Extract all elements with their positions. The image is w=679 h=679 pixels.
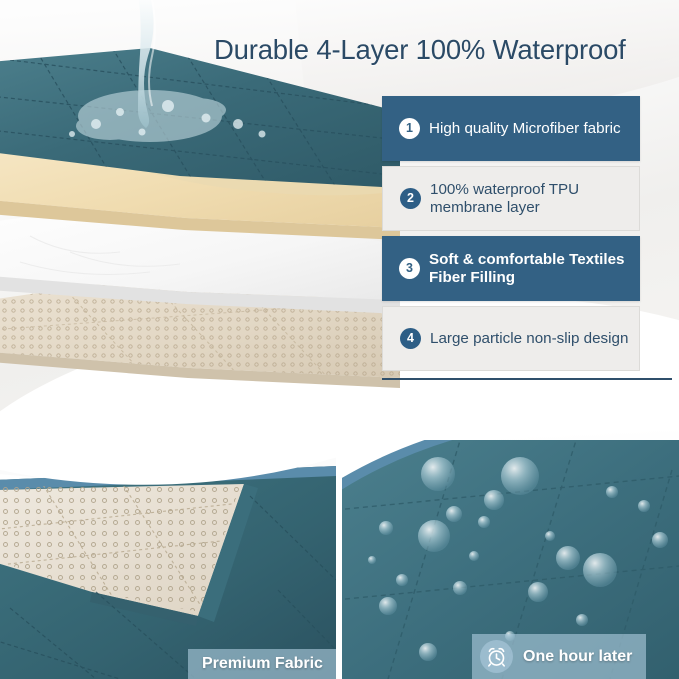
- top-section: Durable 4-Layer 100% Waterproof 1 High q…: [0, 0, 679, 440]
- caption-one-hour-later: One hour later: [472, 634, 646, 679]
- feature-item-2[interactable]: 2 100% waterproof TPU membrane layer: [382, 166, 640, 231]
- feature-badge-2: 2: [400, 188, 421, 209]
- section-divider: [382, 378, 672, 380]
- caption-premium-fabric-label: Premium Fabric: [202, 655, 323, 673]
- product-infographic: Durable 4-Layer 100% Waterproof 1 High q…: [0, 0, 679, 679]
- feature-badge-3: 3: [399, 258, 420, 279]
- feature-label-2: 100% waterproof TPU membrane layer: [430, 181, 629, 215]
- feature-item-1[interactable]: 1 High quality Microfiber fabric: [382, 96, 640, 161]
- feature-item-4[interactable]: 4 Large particle non-slip design: [382, 306, 640, 371]
- caption-one-hour-later-label: One hour later: [523, 648, 632, 666]
- feature-label-3: Soft & comfortable Textiles Fiber Fillin…: [429, 251, 630, 285]
- layer-stack-illustration: [0, 0, 400, 440]
- feature-label-4: Large particle non-slip design: [430, 330, 628, 347]
- feature-item-3[interactable]: 3 Soft & comfortable Textiles Fiber Fill…: [382, 236, 640, 301]
- bottom-section: Premium Fabric: [0, 440, 679, 679]
- panel-one-hour-later: One hour later: [342, 440, 679, 679]
- premium-fabric-photo: [0, 440, 336, 679]
- panel-premium-fabric: Premium Fabric: [0, 440, 336, 679]
- alarm-clock-icon: [480, 640, 513, 673]
- feature-badge-4: 4: [400, 328, 421, 349]
- feature-label-1: High quality Microfiber fabric: [429, 120, 621, 137]
- page-title: Durable 4-Layer 100% Waterproof: [214, 34, 654, 66]
- feature-badge-1: 1: [399, 118, 420, 139]
- caption-premium-fabric: Premium Fabric: [188, 649, 336, 679]
- feature-list: 1 High quality Microfiber fabric 2 100% …: [382, 96, 640, 376]
